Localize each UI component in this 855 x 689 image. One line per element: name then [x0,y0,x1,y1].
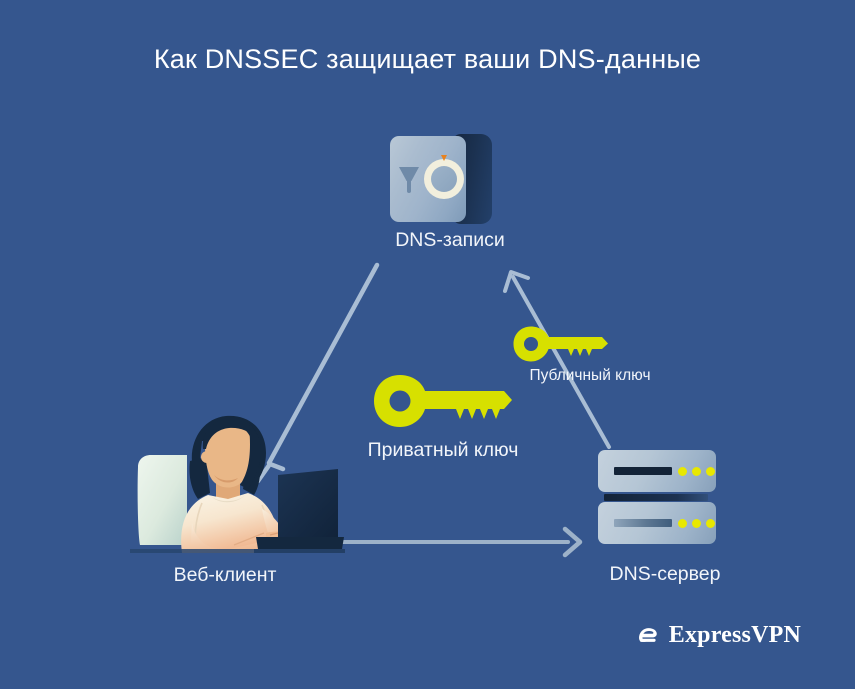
server-led-6 [706,519,715,528]
server-led-3 [706,467,715,476]
server-led-4 [678,519,687,528]
node-label-web-client: Веб-клиент [80,563,370,587]
node-label-dns-server: DNS-сервер [520,562,810,586]
server-slot-top [614,467,672,475]
server-slot-bottom [614,519,672,527]
server-led-5 [692,519,701,528]
node-label-dns-records: DNS-записи [305,228,595,252]
expressvpn-logo-icon [636,620,659,650]
server-divider-shadow [604,494,708,501]
server-led-2 [692,467,701,476]
expressvpn-logo: ExpressVPN [636,618,801,652]
dnssec-infographic: Как DNSSEC защищает ваши DNS-данные DNS-… [0,0,855,689]
safe-handle-stem [407,177,411,193]
server-rack-icon [598,450,718,546]
person-at-laptop-icon [130,405,345,553]
server-led-1 [678,467,687,476]
safe-vault-icon [390,134,494,224]
arrow-client-to-server [337,529,580,555]
key-icon-public [512,325,608,363]
key-label-public: Публичный ключ [400,364,780,388]
brand-wordmark: ExpressVPN [669,622,801,649]
chair-shape [138,455,187,545]
safe-dial-center [431,166,457,192]
desk-surface [130,549,345,553]
